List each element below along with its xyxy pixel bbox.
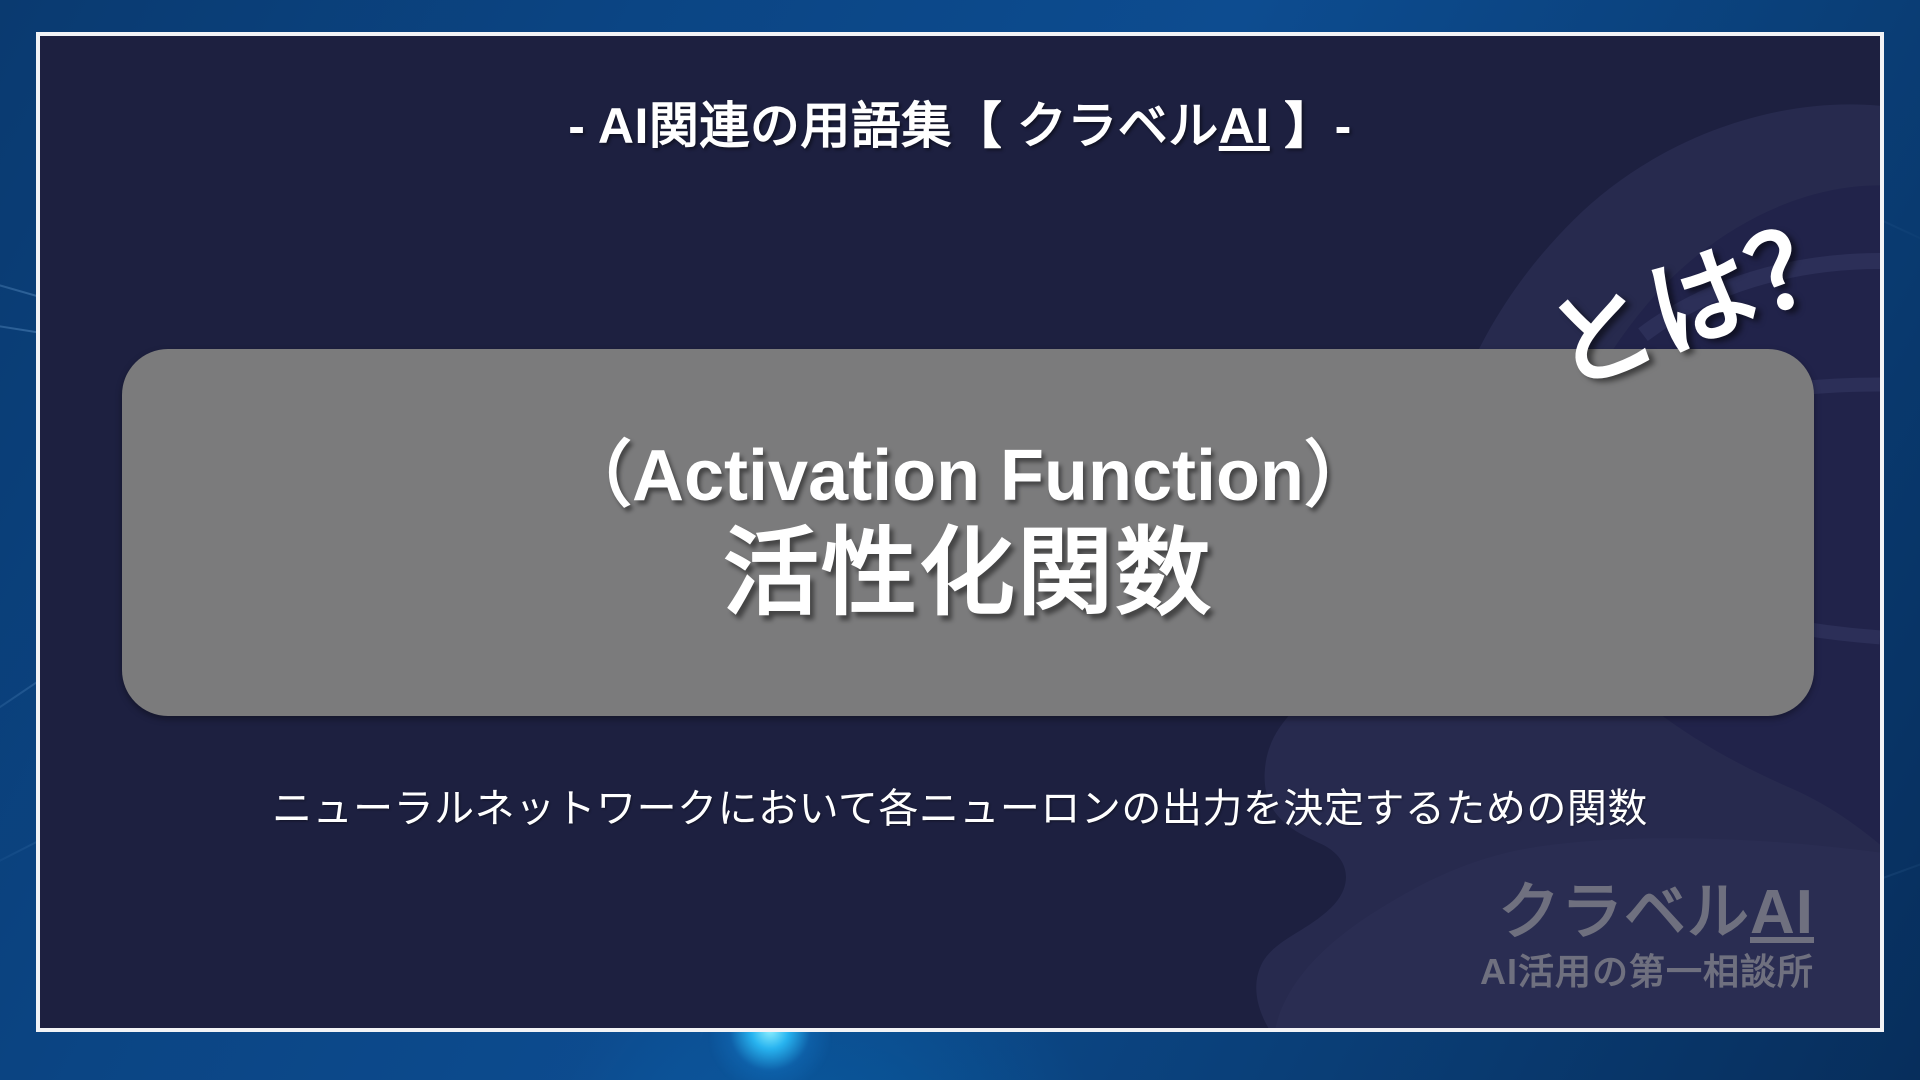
brand-logo-name: クラベルAI bbox=[1480, 882, 1814, 944]
term-card: （Activation Function） 活性化関数 bbox=[122, 349, 1814, 716]
brand-logo: クラベルAI AI活用の第一相談所 bbox=[1480, 882, 1814, 990]
term-japanese: 活性化関数 bbox=[723, 521, 1213, 627]
page-title-prefix: - AI関連の用語集【 クラベル bbox=[568, 98, 1219, 154]
slide-canvas: - AI関連の用語集【 クラベルAI 】- （Activation Functi… bbox=[0, 0, 1920, 1080]
term-english: （Activation Function） bbox=[560, 439, 1376, 515]
page-title-suffix: 】- bbox=[1270, 98, 1352, 154]
page-title-brand-ai: AI bbox=[1219, 98, 1270, 154]
brand-logo-name-prefix: クラベル bbox=[1498, 878, 1750, 947]
slide-frame: - AI関連の用語集【 クラベルAI 】- （Activation Functi… bbox=[36, 32, 1884, 1032]
page-title: - AI関連の用語集【 クラベルAI 】- bbox=[40, 86, 1880, 158]
brand-logo-name-ai: AI bbox=[1750, 878, 1814, 947]
slide-panel: - AI関連の用語集【 クラベルAI 】- （Activation Functi… bbox=[40, 36, 1880, 1028]
term-description: ニューラルネットワークにおいて各ニューロンの出力を決定するための関数 bbox=[40, 776, 1880, 834]
brand-logo-tagline: AI活用の第一相談所 bbox=[1480, 954, 1814, 990]
